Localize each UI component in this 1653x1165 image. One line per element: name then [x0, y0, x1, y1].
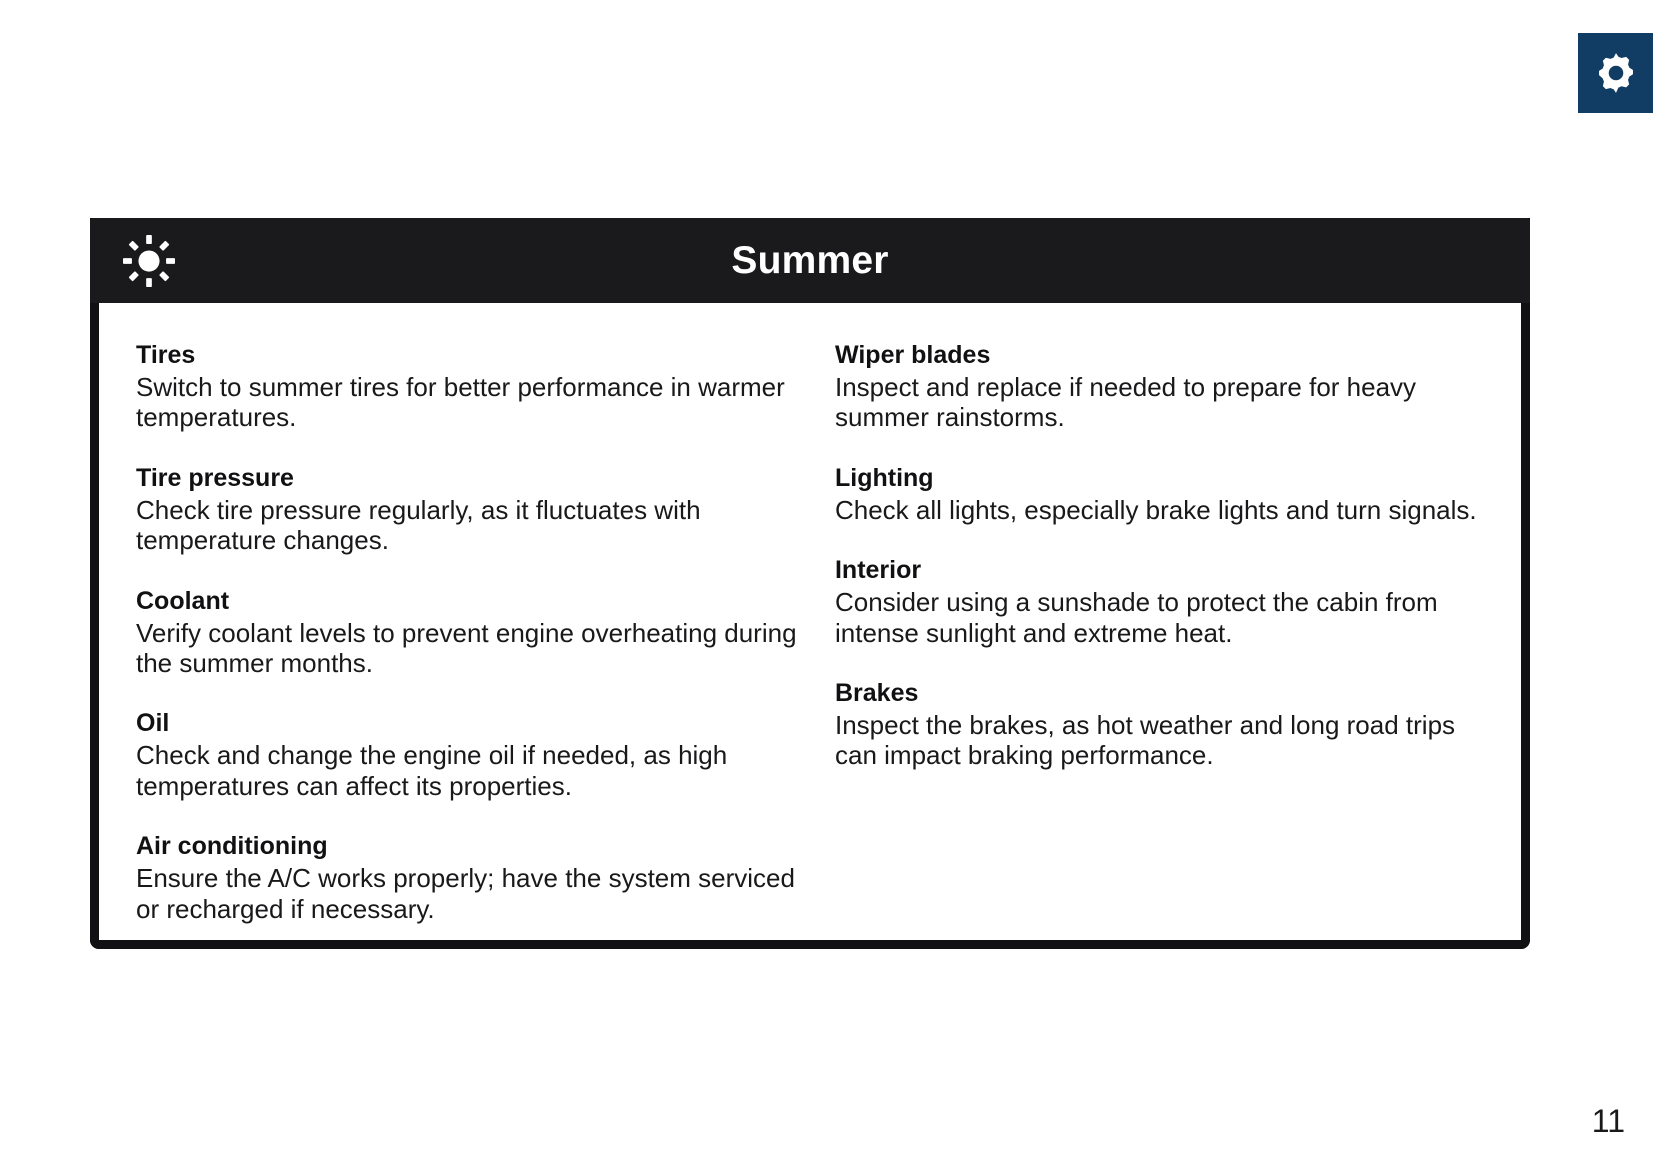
list-item: Air conditioning Ensure the A/C works pr… [136, 831, 805, 924]
entry-title: Tire pressure [136, 463, 805, 493]
entry-title: Brakes [835, 678, 1501, 708]
entry-text: Inspect and replace if needed to prepare… [835, 372, 1501, 433]
entry-text: Check and change the engine oil if neede… [136, 740, 805, 801]
gear-icon [1593, 50, 1639, 96]
card-header: Summer [90, 218, 1530, 303]
list-item: Coolant Verify coolant levels to prevent… [136, 586, 805, 679]
entry-text: Verify coolant levels to prevent engine … [136, 618, 805, 679]
entry-title: Lighting [835, 463, 1501, 493]
card-title: Summer [90, 241, 1530, 280]
entry-title: Oil [136, 708, 805, 738]
settings-gear-badge[interactable] [1578, 33, 1653, 113]
list-item: Brakes Inspect the brakes, as hot weathe… [835, 678, 1501, 771]
entry-title: Coolant [136, 586, 805, 616]
entry-text: Switch to summer tires for better perfor… [136, 372, 805, 433]
list-item: Oil Check and change the engine oil if n… [136, 708, 805, 801]
list-item: Interior Consider using a sunshade to pr… [835, 555, 1501, 648]
entry-title: Tires [136, 340, 805, 370]
entry-title: Air conditioning [136, 831, 805, 861]
list-item: Lighting Check all lights, especially br… [835, 463, 1501, 525]
list-item: Tires Switch to summer tires for better … [136, 340, 805, 433]
entry-title: Wiper blades [835, 340, 1501, 370]
entry-text: Consider using a sunshade to protect the… [835, 587, 1501, 648]
entry-text: Check tire pressure regularly, as it flu… [136, 495, 805, 556]
entry-text: Check all lights, especially brake light… [835, 495, 1501, 525]
entry-text: Inspect the brakes, as hot weather and l… [835, 710, 1501, 771]
sun-icon [121, 233, 177, 289]
entry-title: Interior [835, 555, 1501, 585]
left-column: Tires Switch to summer tires for better … [99, 340, 825, 940]
season-card: Summer Tires Switch to summer tires for … [90, 218, 1530, 949]
page-number: 11 [1592, 1105, 1625, 1137]
list-item: Wiper blades Inspect and replace if need… [835, 340, 1501, 433]
right-column: Wiper blades Inspect and replace if need… [825, 340, 1521, 940]
entry-text: Ensure the A/C works properly; have the … [136, 863, 805, 924]
card-body: Tires Switch to summer tires for better … [99, 303, 1521, 940]
list-item: Tire pressure Check tire pressure regula… [136, 463, 805, 556]
